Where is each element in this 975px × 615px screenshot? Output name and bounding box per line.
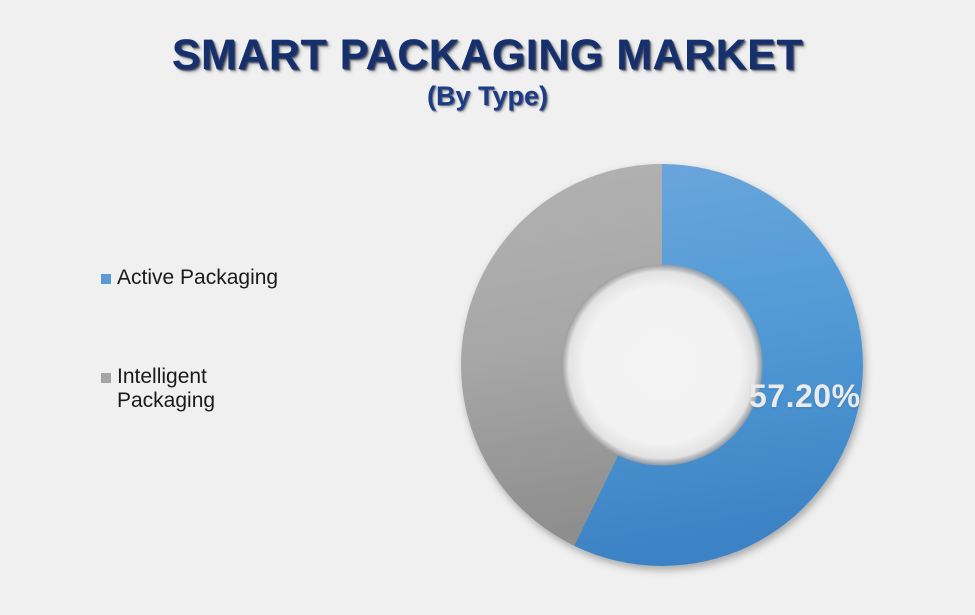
legend-item-intelligent-packaging[interactable]: Intelligent Packaging [101, 365, 331, 414]
title-block: SMART PACKAGING MARKET (By Type) [0, 34, 975, 110]
legend-swatch-icon-active-packaging [101, 274, 111, 284]
legend-swatch-icon-intelligent-packaging [101, 373, 111, 383]
donut-plot-area [444, 147, 880, 583]
smart-packaging-market-donut-chart: SMART PACKAGING MARKET (By Type) Active … [0, 0, 975, 615]
legend-item-active-packaging[interactable]: Active Packaging [101, 266, 331, 291]
chart-title: SMART PACKAGING MARKET [0, 34, 975, 78]
legend-label-intelligent-packaging: Intelligent Packaging [117, 365, 215, 414]
donut-svg [444, 147, 880, 583]
chart-legend: Active Packaging Intelligent Packaging [101, 266, 331, 488]
donut-hole [562, 265, 763, 466]
chart-subtitle: (By Type) [0, 82, 975, 110]
legend-label-active-packaging: Active Packaging [117, 266, 278, 291]
